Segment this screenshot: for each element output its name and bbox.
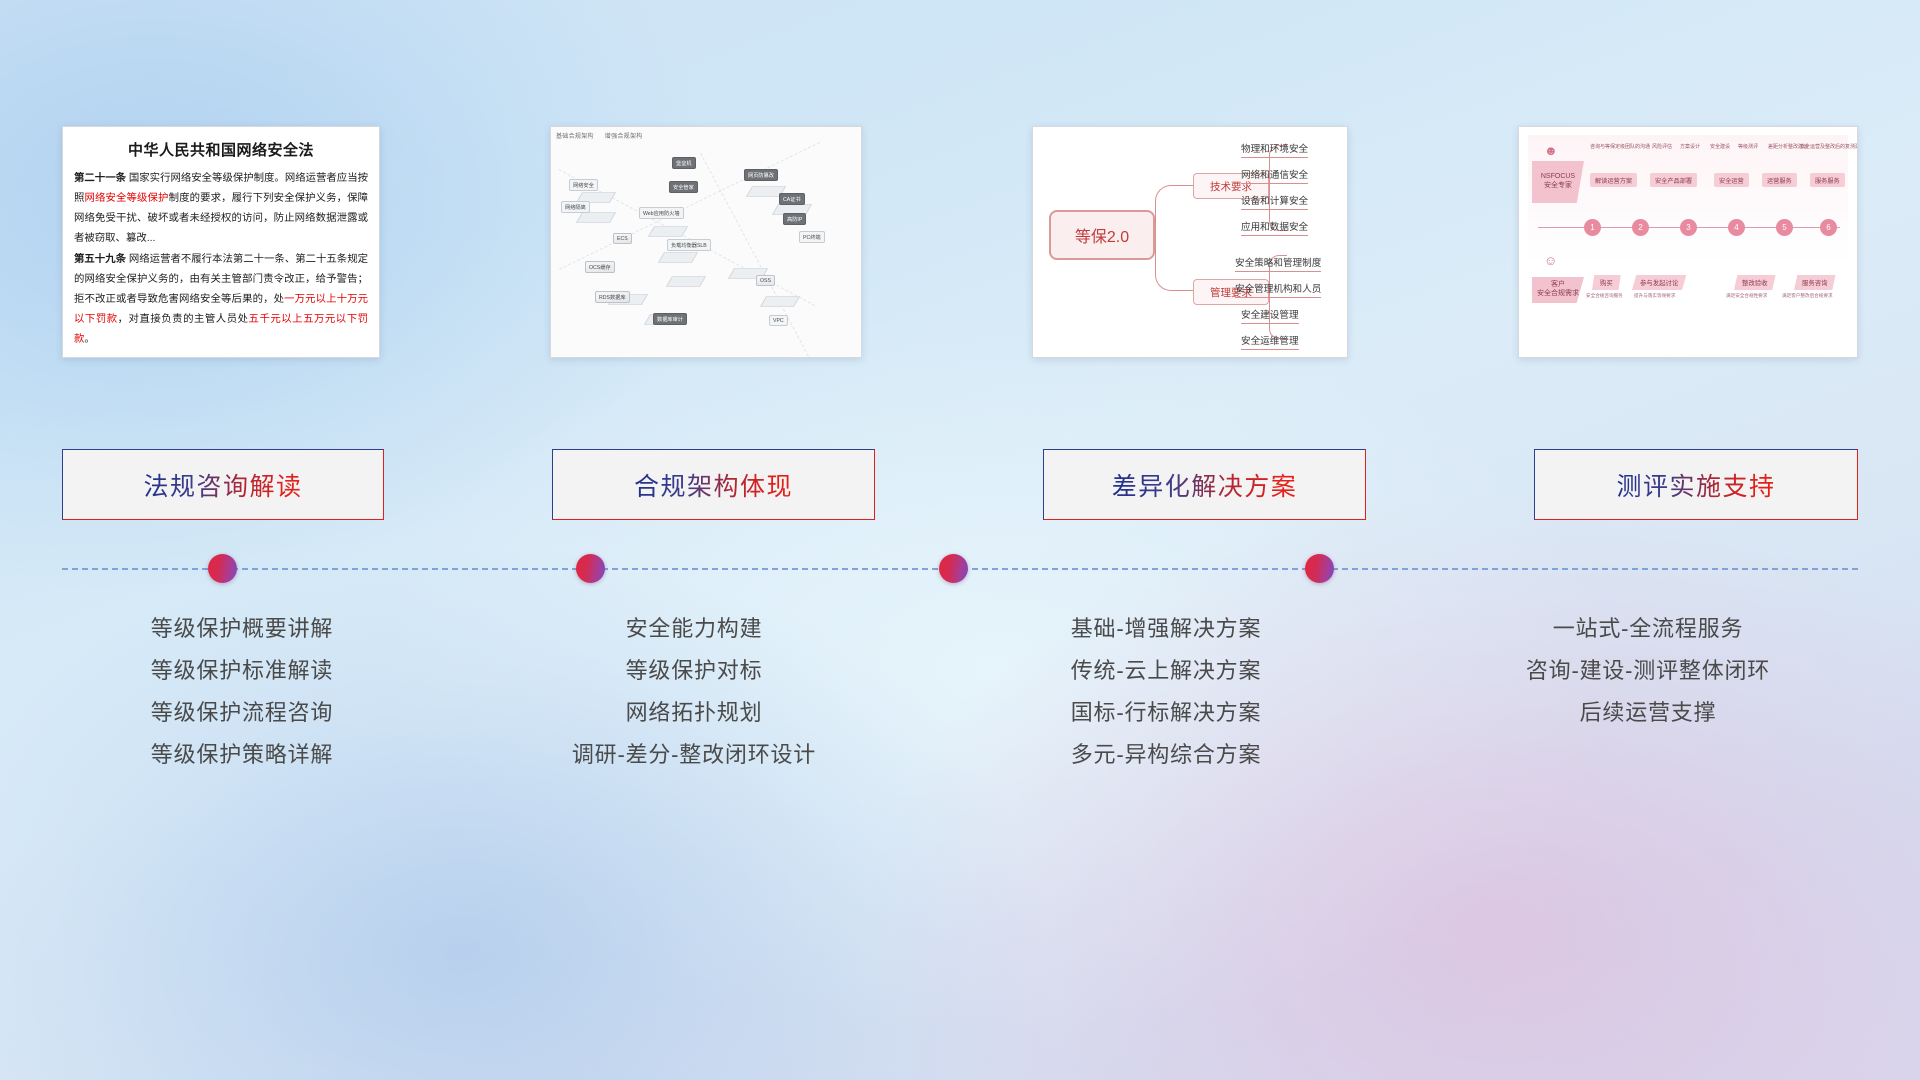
roadmap-chip-4: 服务服务: [1810, 173, 1845, 187]
grid-guide: [700, 153, 823, 358]
roadmap-step-1: 1: [1584, 219, 1601, 236]
roadmap-customer-sub: 安全合规需求: [1537, 290, 1579, 299]
node-oss: OSS: [756, 275, 775, 286]
section-heading-regulation-consulting[interactable]: 法规咨询解读: [62, 449, 384, 520]
roadmap-brand: NSFOCUS: [1541, 173, 1575, 182]
roadmap-bottom-sub-1: 提升与落实等保要求: [1634, 293, 1675, 299]
roadmap-tag-1: 风险评估: [1652, 143, 1672, 150]
node-ecs: ECS: [613, 233, 632, 244]
node-waf: Web应用防火墙: [639, 207, 684, 219]
section-heading-label: 合规架构体现: [634, 467, 793, 503]
iso-platform: [576, 212, 616, 223]
article-21-number: 第二十一条: [74, 173, 126, 184]
roadmap-step-4: 4: [1728, 219, 1745, 236]
node-pc-terminal: PC终端: [799, 231, 825, 243]
node-database-audit: 数据库审计: [653, 313, 687, 325]
law-title: 中华人民共和国网络安全法: [63, 139, 379, 160]
iso-platform: [658, 252, 698, 263]
bullet-column-evaluation-support: 一站式-全流程服务 咨询-建设-测评整体闭环 后续运营支撑: [1438, 608, 1858, 776]
bullet-column-differentiated-solution: 基础-增强解决方案 传统-云上解决方案 国标-行标解决方案 多元-异构综合方案: [966, 608, 1366, 776]
node-security-butler: 安全管家: [669, 181, 698, 193]
roadmap-right-chip-1: 服务咨询: [1794, 275, 1836, 290]
node-network-security: 网络安全: [569, 179, 598, 191]
roadmap-step-3: 3: [1680, 219, 1697, 236]
roadmap-chip-0: 解读运营方案: [1590, 173, 1637, 187]
section-heading-label: 测评实施支持: [1616, 467, 1775, 503]
roadmap-bottom-chip-0: 购买: [1592, 275, 1621, 290]
roadmap-bottom-sub-0: 安全合规咨询服务: [1586, 293, 1623, 299]
mindmap-connector: [1155, 235, 1193, 291]
section-heading-evaluation-support[interactable]: 测评实施支持: [1534, 449, 1858, 520]
bullet-item: 国标-行标解决方案: [966, 692, 1366, 734]
timeline-dot-3[interactable]: [939, 554, 968, 583]
bullet-item: 等级保护流程咨询: [62, 692, 422, 734]
article-59-text-c: 。: [84, 334, 94, 345]
toolbar-tab-enhanced: 增强合规架构: [605, 134, 643, 140]
mindmap-leaf-physical-env: 物理和环境安全: [1241, 141, 1308, 158]
roadmap-step-2: 2: [1632, 219, 1649, 236]
article-59-text-b: ，对直接负责的主管人员处: [118, 314, 249, 325]
card-architecture-diagram: 基础合规架构 增强合规架构 堡垒机 安全管家 网络安: [550, 126, 862, 358]
bullet-item: 等级保护策略详解: [62, 734, 422, 776]
preview-card-row: 中华人民共和国网络安全法 第二十一条 国家实行网络安全等级保护制度。网络运营者应…: [62, 126, 1858, 358]
mindmap-leaf-ops-mgmt: 安全运维管理: [1241, 333, 1299, 350]
roadmap-brand-sub: 安全专家: [1544, 182, 1572, 191]
architecture-nodes: 堡垒机 安全管家 网络安全 网络隔离 网页防篡改 CA证书 高防IP PC终端 …: [551, 143, 861, 357]
bullet-item: 多元-异构综合方案: [966, 734, 1366, 776]
architecture-canvas: 基础合规架构 增强合规架构 堡垒机 安全管家 网络安: [551, 127, 861, 357]
architecture-toolbar: 基础合规架构 增强合规架构: [556, 131, 652, 140]
bullet-item: 咨询-建设-测评整体闭环: [1438, 650, 1858, 692]
roadmap-tag-0: 咨询与等保定级团队的沟通: [1590, 143, 1650, 150]
bullet-item: 等级保护对标: [494, 650, 894, 692]
roadmap-chip-1: 安全产品部署: [1650, 173, 1697, 187]
section-heading-row: 法规咨询解读 合规架构体现 差异化解决方案 测评实施支持: [62, 449, 1858, 520]
section-heading-differentiated-solution[interactable]: 差异化解决方案: [1043, 449, 1366, 520]
node-rds-database: RDS数据库: [595, 291, 630, 303]
mindmap-canvas: 等保2.0 技术要求 管理要求 物理和环境安全 网络和通信安全 设备和计算安全 …: [1033, 127, 1347, 357]
roadmap-tag-4: 等级测评: [1738, 143, 1758, 150]
bullet-item: 一站式-全流程服务: [1438, 608, 1858, 650]
bullet-item: 等级保护标准解读: [62, 650, 422, 692]
customer-avatar-icon: ☺: [1544, 253, 1557, 268]
mindmap-leaf-org-personnel: 安全管理机构和人员: [1235, 281, 1321, 298]
mindmap-leaf-policy-system: 安全策略和管理制度: [1235, 255, 1321, 272]
expert-avatar-icon: ☻: [1544, 143, 1558, 158]
bullet-column-compliance-architecture: 安全能力构建 等级保护对标 网络拓扑规划 调研-差分-整改闭环设计: [494, 608, 894, 776]
card-cybersecurity-law: 中华人民共和国网络安全法 第二十一条 国家实行网络安全等级保护制度。网络运营者应…: [62, 126, 380, 358]
mindmap-root-node: 等保2.0: [1049, 210, 1155, 260]
node-ocs-cache: OCS缓存: [585, 261, 615, 273]
roadmap-chip-3: 运营服务: [1762, 173, 1797, 187]
mindmap-leaf-app-data: 应用和数据安全: [1241, 219, 1308, 236]
node-webpage-tamper-proof: 网页防篡改: [744, 169, 778, 181]
article-59-number: 第五十九条: [74, 254, 126, 265]
roadmap-customer-label: 客户: [1551, 281, 1565, 290]
mindmap-connector: [1155, 185, 1193, 237]
iso-platform: [648, 226, 688, 237]
mindmap-leaf-device-compute: 设备和计算安全: [1241, 193, 1308, 210]
timeline-dot-2[interactable]: [576, 554, 605, 583]
bullet-item: 基础-增强解决方案: [966, 608, 1366, 650]
card-service-roadmap: ☻ NSFOCUS 安全专家 咨询与等保定级团队的沟通 风险评估 方案设计 安全…: [1518, 126, 1858, 358]
roadmap-right-sub-0: 满足安全合规性要求: [1726, 293, 1767, 299]
roadmap-tag-6: 安全运营及整改后的复测建议: [1800, 143, 1858, 150]
roadmap-right-sub-1: 满足客户整改后合规要求: [1782, 293, 1833, 299]
node-high-defense-ip: 高防IP: [783, 213, 806, 225]
roadmap-brand-block: NSFOCUS 安全专家: [1532, 161, 1584, 203]
bullet-column-regulation-consulting: 等级保护概要讲解 等级保护标准解读 等级保护流程咨询 等级保护策略详解: [62, 608, 422, 776]
section-heading-label: 差异化解决方案: [1112, 467, 1298, 503]
iso-platform: [760, 296, 800, 307]
bullet-item: 调研-差分-整改闭环设计: [494, 734, 894, 776]
roadmap-panel: ☻ NSFOCUS 安全专家 咨询与等保定级团队的沟通 风险评估 方案设计 安全…: [1528, 135, 1848, 349]
node-bastion: 堡垒机: [672, 157, 696, 169]
roadmap-tag-2: 方案设计: [1680, 143, 1700, 150]
node-slb: 负载均衡器SLB: [667, 239, 711, 251]
bullet-item: 安全能力构建: [494, 608, 894, 650]
node-vpc: VPC: [769, 315, 788, 326]
bullet-item: 网络拓扑规划: [494, 692, 894, 734]
timeline: [62, 568, 1858, 571]
bullet-column-row: 等级保护概要讲解 等级保护标准解读 等级保护流程咨询 等级保护策略详解 安全能力…: [62, 608, 1858, 776]
roadmap-tag-3: 安全建设: [1710, 143, 1730, 150]
roadmap-chip-2: 安全运营: [1714, 173, 1749, 187]
article-21-highlight: 网络安全等级保护: [85, 193, 169, 204]
roadmap-customer-block: 客户 安全合规需求: [1532, 277, 1584, 303]
law-article-59: 第五十九条 网络运营者不履行本法第二十一条、第二十五条规定的网络安全保护义务的，…: [74, 250, 368, 350]
timeline-dot-4[interactable]: [1305, 554, 1334, 583]
mindmap-leaf-network-comm: 网络和通信安全: [1241, 167, 1308, 184]
node-ca-certificate: CA证书: [779, 193, 805, 205]
bullet-item: 等级保护概要讲解: [62, 608, 422, 650]
bullet-item: 后续运营支撑: [1438, 692, 1858, 734]
law-article-21: 第二十一条 国家实行网络安全等级保护制度。网络运营者应当按照网络安全等级保护制度…: [74, 169, 368, 249]
node-network-isolation: 网络隔离: [561, 201, 590, 213]
section-heading-compliance-architecture[interactable]: 合规架构体现: [552, 449, 875, 520]
roadmap-right-chip-0: 整改验收: [1734, 275, 1776, 290]
roadmap-bottom-chip-1: 参与发起讨论: [1632, 275, 1686, 290]
toolbar-tab-basic: 基础合规架构: [556, 134, 594, 140]
roadmap-step-6: 6: [1820, 219, 1837, 236]
bullet-item: 传统-云上解决方案: [966, 650, 1366, 692]
section-heading-label: 法规咨询解读: [143, 467, 302, 503]
card-mindmap: 等保2.0 技术要求 管理要求 物理和环境安全 网络和通信安全 设备和计算安全 …: [1032, 126, 1348, 358]
law-body: 第二十一条 国家实行网络安全等级保护制度。网络运营者应当按照网络安全等级保护制度…: [74, 169, 368, 350]
timeline-dot-1[interactable]: [208, 554, 237, 583]
mindmap-leaf-construction-mgmt: 安全建设管理: [1241, 307, 1299, 324]
roadmap-step-5: 5: [1776, 219, 1793, 236]
roadmap-canvas: ☻ NSFOCUS 安全专家 咨询与等保定级团队的沟通 风险评估 方案设计 安全…: [1519, 127, 1857, 357]
iso-platform: [666, 276, 706, 287]
